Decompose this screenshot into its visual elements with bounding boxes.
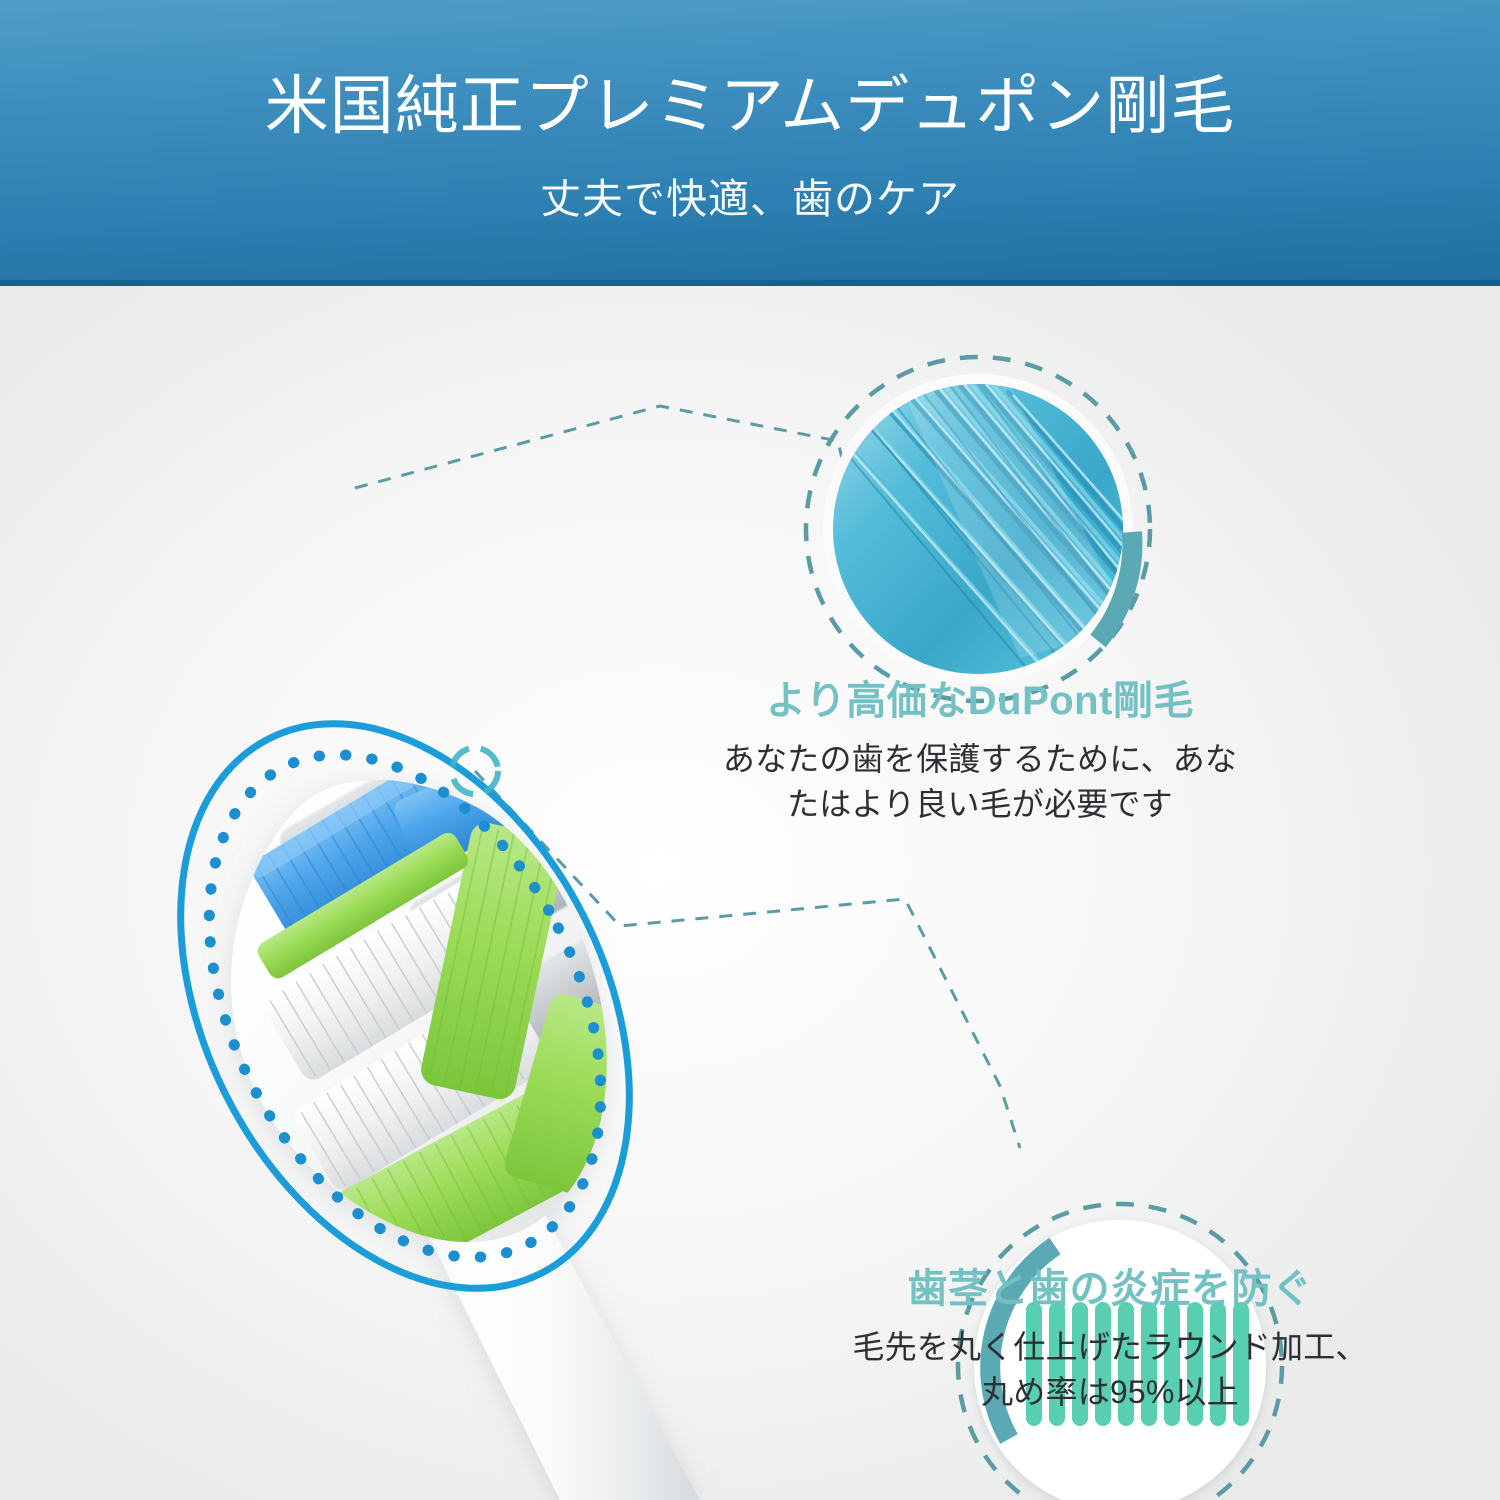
callout-body-line-1: 毛先を丸く仕上げたラウンド加工、 bbox=[790, 1325, 1430, 1370]
header-banner: 米国純正プレミアムデュポン剛毛 丈夫で快適、歯のケア bbox=[0, 0, 1500, 286]
callout-text-dupont-bristles: より高価なDuPont剛毛 あなたの歯を保護するために、あな たはより良い毛が必… bbox=[660, 678, 1300, 828]
page-subtitle: 丈夫で快適、歯のケア bbox=[0, 179, 1500, 220]
page-title: 米国純正プレミアムデュポン剛毛 bbox=[0, 74, 1500, 138]
callout-heading-dupont: より高価なDuPont剛毛 bbox=[660, 678, 1300, 724]
callout-body-line-1: あなたの歯を保護するために、あな bbox=[660, 737, 1300, 782]
callout-text-rounded-tips: 歯茎と歯の炎症を防ぐ 毛先を丸く仕上げたラウンド加工、 丸め率は95%以上 bbox=[790, 1266, 1430, 1416]
callout-body-rounded-tips: 毛先を丸く仕上げたラウンド加工、 丸め率は95%以上 bbox=[790, 1325, 1430, 1416]
callout-body-line-2: たはより良い毛が必要です bbox=[660, 782, 1300, 827]
callout-body-dupont: あなたの歯を保護するために、あな たはより良い毛が必要です bbox=[660, 737, 1300, 828]
callout-heading-rounded-tips: 歯茎と歯の炎症を防ぐ bbox=[790, 1266, 1430, 1312]
graphic-stage: Se bbox=[0, 286, 1500, 1500]
callout-body-line-2: 丸め率は95%以上 bbox=[790, 1370, 1430, 1415]
product-infographic: 米国純正プレミアムデュポン剛毛 丈夫で快適、歯のケア bbox=[0, 0, 1500, 1500]
